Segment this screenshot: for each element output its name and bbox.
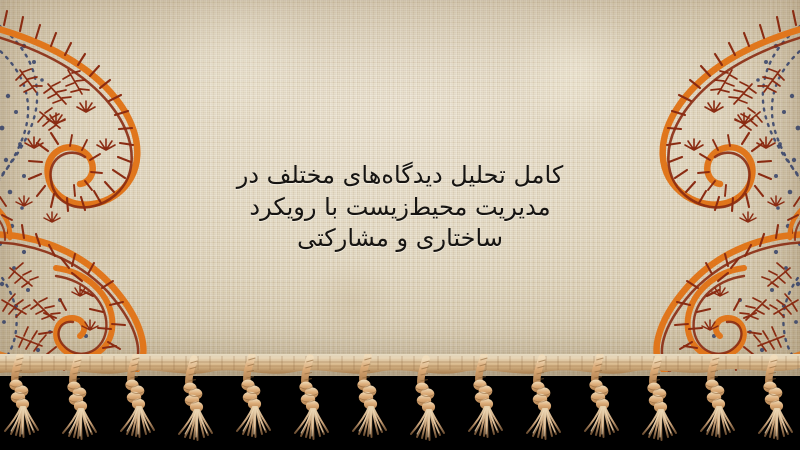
title-line-1: کامل تحلیل دیدگاه‌های مختلف در [190, 160, 610, 192]
title-slide: کامل تحلیل دیدگاه‌های مختلف در مدیریت مح… [0, 0, 800, 450]
slide-title: کامل تحلیل دیدگاه‌های مختلف در مدیریت مح… [0, 160, 800, 255]
title-line-3: ساختاری و مشارکتی [190, 223, 610, 255]
knotted-tassel-fringe [0, 354, 800, 450]
title-line-2: مدیریت محیط‌زیست با رویکرد [190, 192, 610, 224]
